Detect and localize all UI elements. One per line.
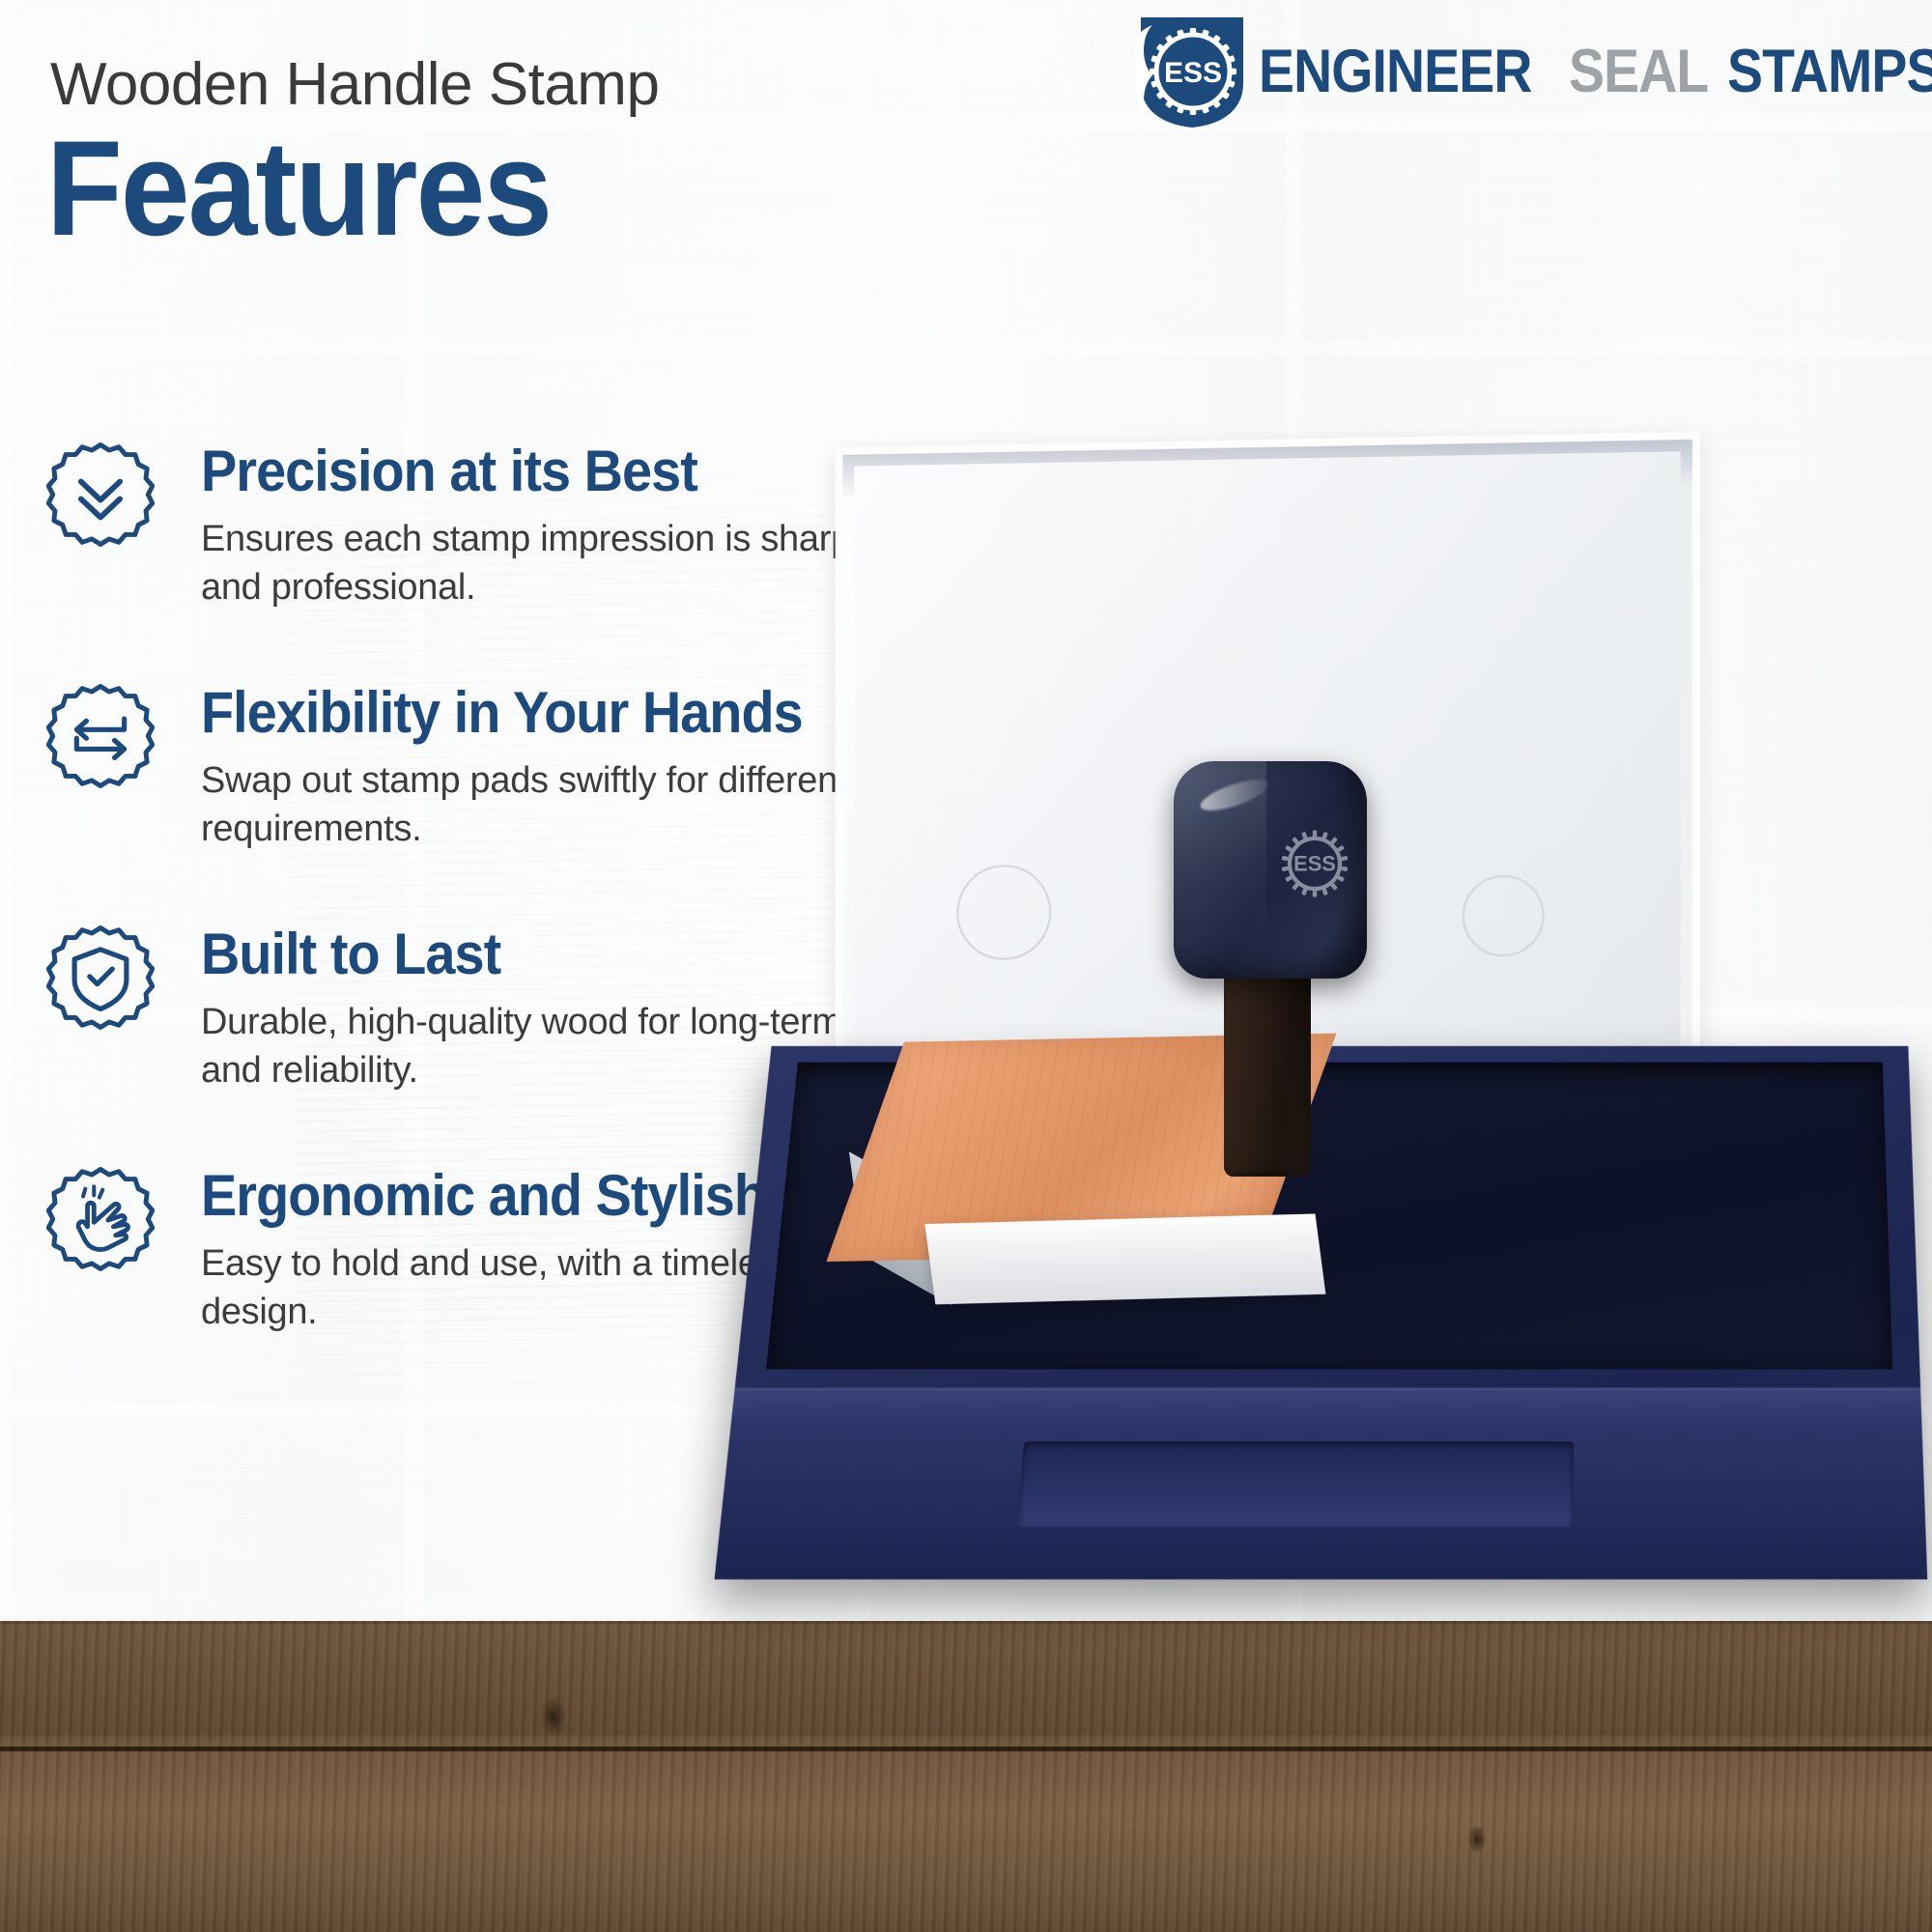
chevron-double-down-badge-icon: [46, 440, 155, 549]
brand-wordmark: ENGINEER SEAL STAMPS: [1259, 14, 1932, 129]
logo-word-stamps: STAMPS: [1727, 42, 1932, 102]
logo-word-engineer: ENGINEER: [1259, 42, 1532, 102]
wood-plank-seam: [0, 1747, 1932, 1751]
page-title: Features: [46, 121, 551, 256]
brand-logo[interactable]: ESS ENGINEER SEAL STAMPS .COM: [1135, 14, 1932, 129]
shield-check-badge-icon: [46, 923, 155, 1032]
wood-knot: [1468, 1826, 1486, 1853]
infographic-canvas: Wooden Handle Stamp Features: [0, 0, 1932, 1932]
lid-emboss-circle: [1463, 875, 1545, 957]
stamp-handle-ess-text: ESS: [1293, 852, 1336, 876]
box-front-rim: [715, 1388, 1928, 1579]
swap-arrows-badge-icon: [46, 682, 155, 790]
box-rim-groove: [1017, 1441, 1574, 1526]
page-kicker: Wooden Handle Stamp: [50, 50, 659, 119]
ess-mark-text: ESS: [1164, 57, 1222, 89]
ess-shield-icon: ESS: [1135, 14, 1249, 129]
wood-block-front-label: [924, 1213, 1325, 1304]
tap-hand-badge-icon: [46, 1165, 155, 1273]
lid-emboss-circle: [956, 865, 1051, 960]
stamp-handle-ess-gear-icon: ESS: [1274, 823, 1355, 904]
product-photo: ESS: [927, 415, 1932, 1681]
stamp-handle: ESS: [1174, 761, 1367, 1167]
logo-word-seal: SEAL: [1569, 42, 1708, 102]
wood-knot: [541, 1696, 566, 1737]
